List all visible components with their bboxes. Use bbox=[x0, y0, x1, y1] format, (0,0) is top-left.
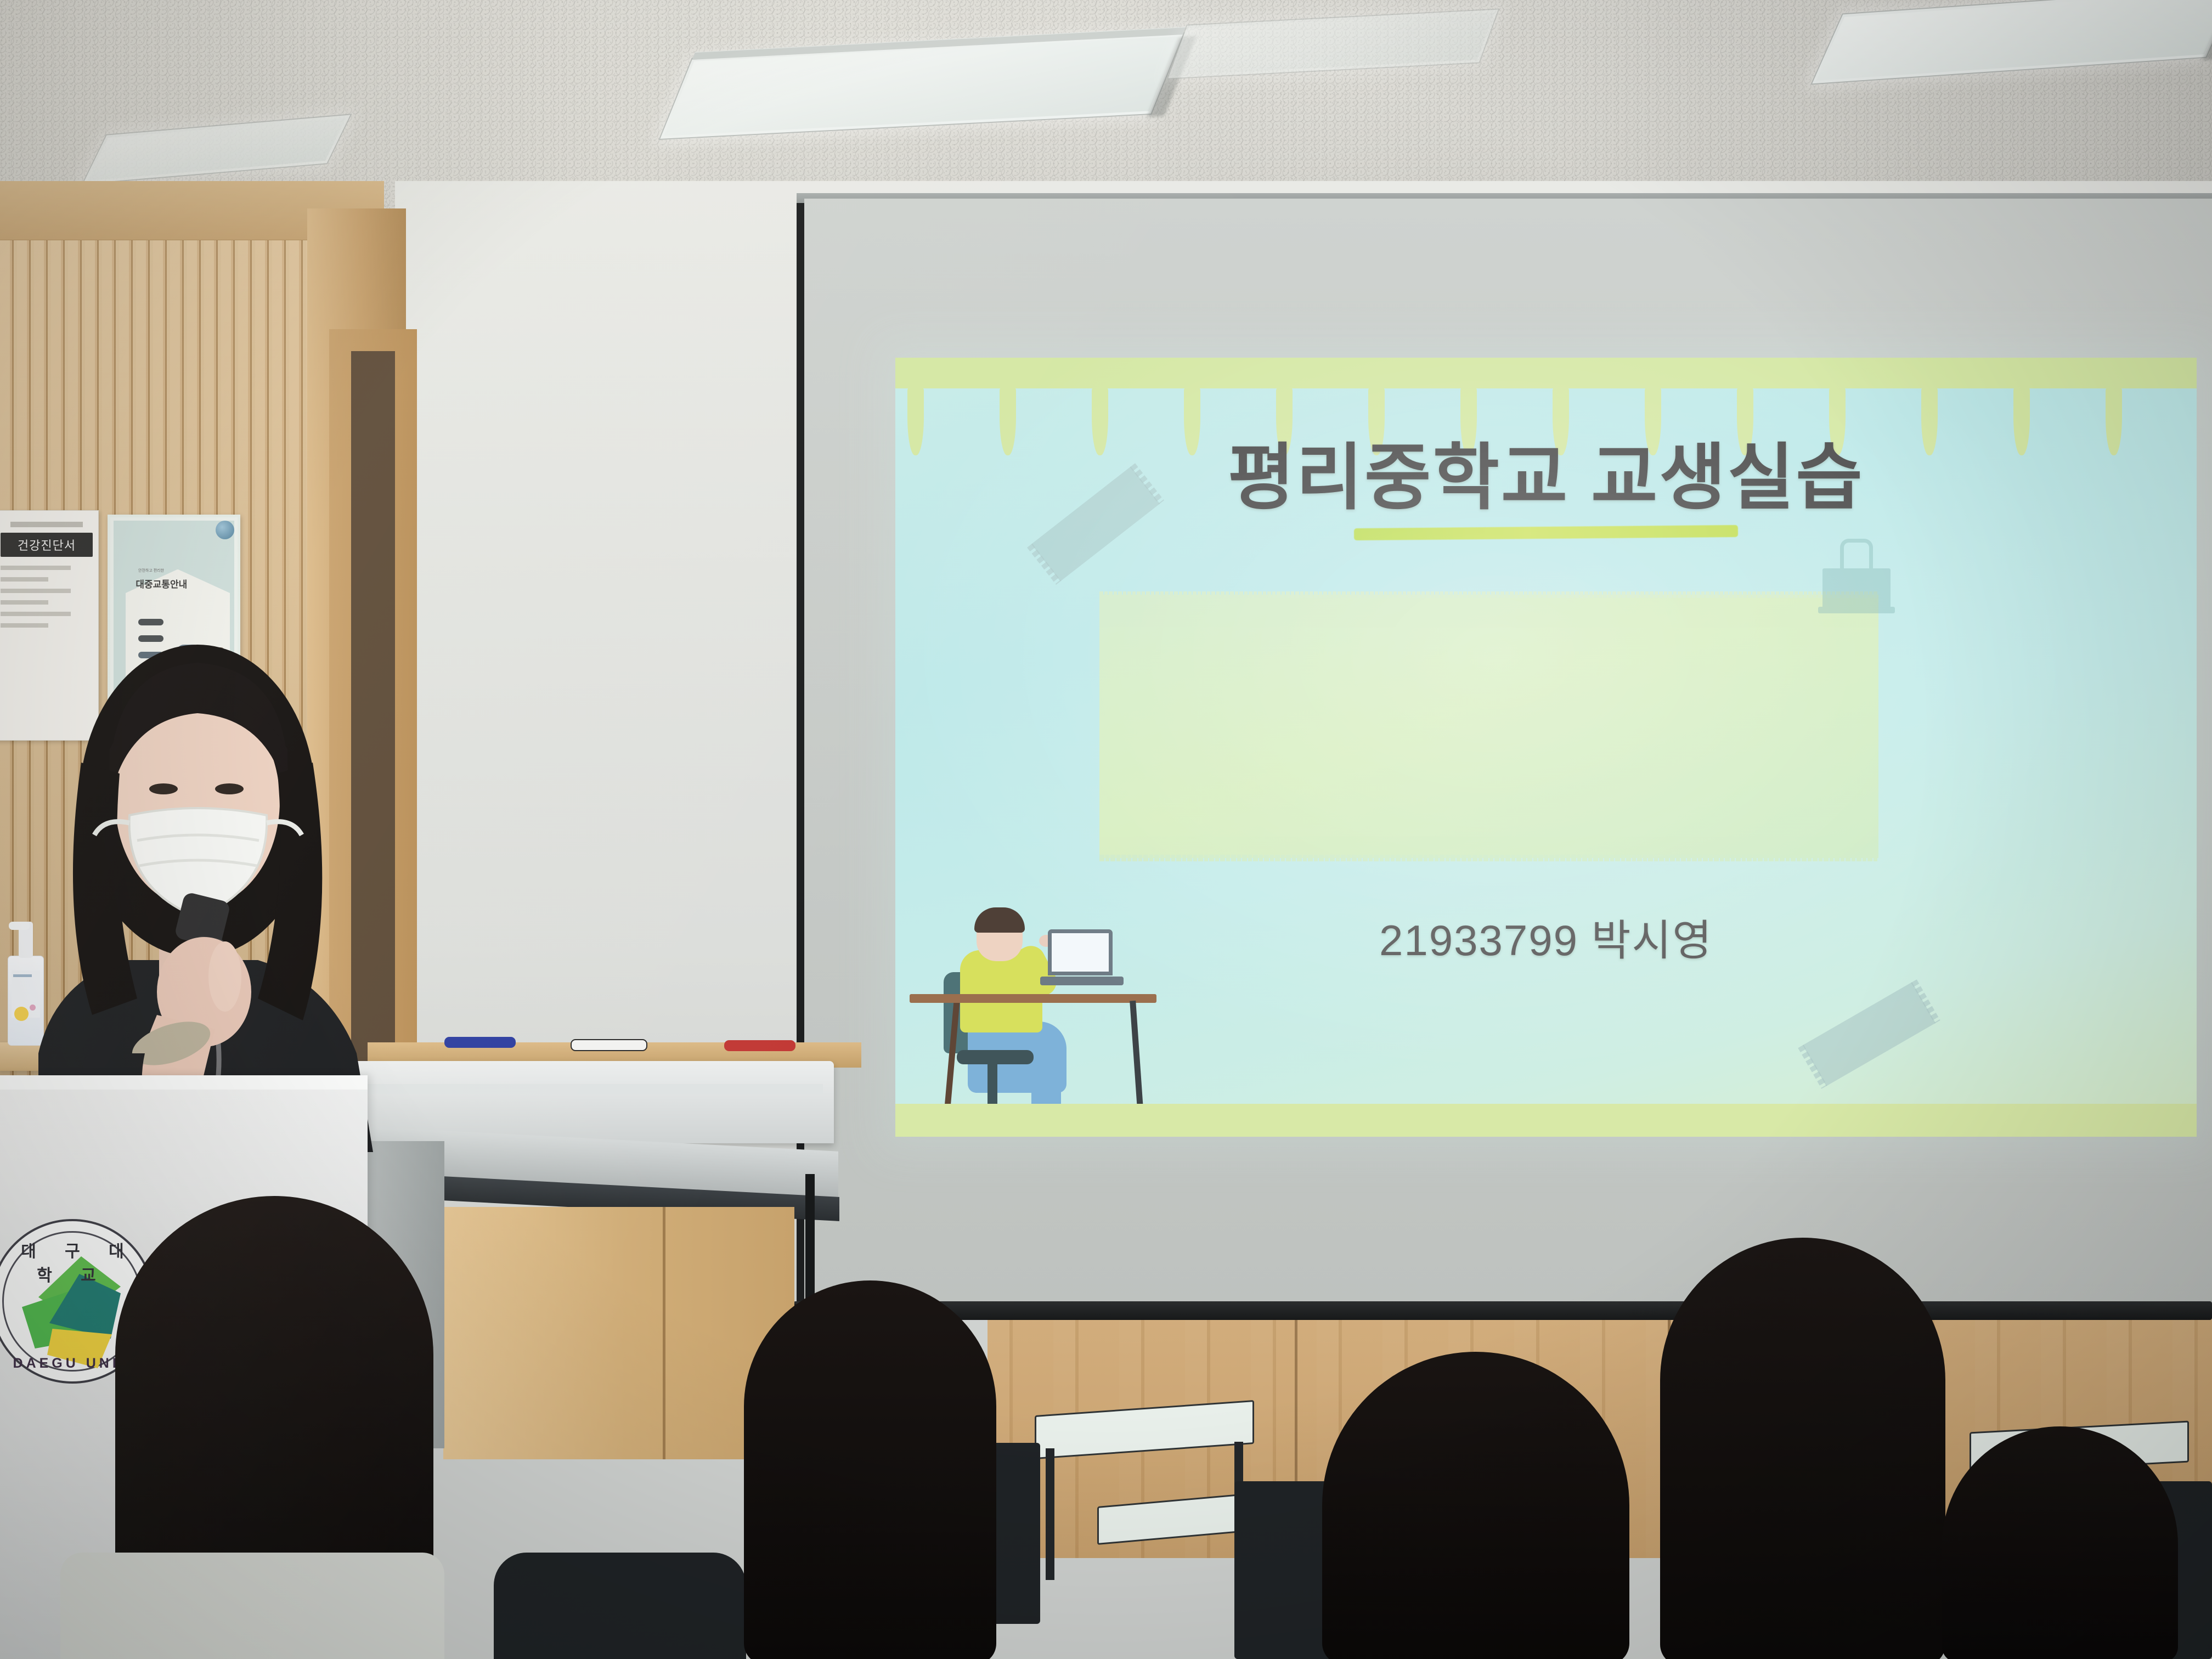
poster-left-line bbox=[1, 566, 71, 570]
student-at-desk-illustration bbox=[910, 895, 1167, 1115]
title-highlighter-underline bbox=[1354, 525, 1738, 540]
projection-screen: 평리중학교 교생실습 21933799 박시영 bbox=[797, 193, 2212, 1323]
illustration-desk-leg bbox=[1130, 1001, 1143, 1108]
lectern-cabinet[interactable] bbox=[443, 1207, 794, 1459]
presenter-eye-right bbox=[215, 783, 244, 794]
screen-bottom-rail[interactable] bbox=[793, 1301, 2212, 1320]
presenter-thumb bbox=[208, 941, 241, 1012]
laptop-icon bbox=[1048, 929, 1113, 975]
desk-leg bbox=[1046, 1448, 1054, 1580]
binder-clip-body bbox=[1822, 568, 1891, 609]
slide-top-band bbox=[895, 358, 2197, 388]
poster-left-header-band: 건강진단서 bbox=[1, 533, 93, 557]
poster-left-line bbox=[1, 623, 48, 628]
audience-head bbox=[1322, 1352, 1629, 1659]
audience-head bbox=[1942, 1426, 2178, 1659]
poster-seal-icon bbox=[216, 521, 234, 539]
laptop-base bbox=[1040, 977, 1124, 985]
audience-head bbox=[1660, 1238, 1945, 1659]
poster-subtitle: 안전하고 편리한 bbox=[138, 568, 164, 573]
illustration-hair bbox=[974, 907, 1025, 933]
marker-red[interactable] bbox=[724, 1040, 795, 1051]
projected-slide: 평리중학교 교생실습 21933799 박시영 bbox=[895, 358, 2197, 1137]
logo-korean-text: 대 구 대 학 교 bbox=[0, 1238, 153, 1286]
podium-top-edge bbox=[0, 1075, 368, 1090]
cabinet-door-seam bbox=[663, 1207, 665, 1459]
audience-shoulders bbox=[60, 1553, 444, 1659]
illustration-desk-top bbox=[910, 994, 1156, 1003]
poster-left-line bbox=[1, 612, 71, 616]
classroom-photo-scene: 건강진단서 안전하고 편리한 대중교통안내 bbox=[0, 0, 2212, 1659]
poster-left-header-text: 건강진단서 bbox=[18, 536, 76, 554]
audience-head bbox=[744, 1280, 996, 1659]
slide-title-card bbox=[1099, 595, 1878, 858]
presenter bbox=[22, 636, 472, 1152]
washi-tape-bottom-right-icon bbox=[1803, 982, 1936, 1086]
binder-clip-foot bbox=[1818, 607, 1895, 613]
poster-left-line bbox=[1, 589, 71, 593]
slide-bottom-band bbox=[895, 1104, 2197, 1137]
poster-left-line bbox=[1, 600, 48, 605]
poster-left-line bbox=[1, 577, 48, 582]
binder-clip-icon bbox=[1822, 539, 1891, 609]
tape-edge bbox=[1798, 1045, 1827, 1088]
tape-edge bbox=[1027, 544, 1061, 585]
poster-chip bbox=[138, 619, 163, 625]
marker-black[interactable] bbox=[571, 1039, 647, 1051]
classroom-chair[interactable] bbox=[494, 1553, 746, 1659]
presenter-eye-left bbox=[149, 783, 178, 794]
binder-clip-arm bbox=[1840, 539, 1873, 573]
illustration-chair-post bbox=[988, 1063, 997, 1105]
poster-title: 대중교통안내 bbox=[136, 577, 187, 590]
tape-edge bbox=[1911, 979, 1940, 1023]
poster-left-topline bbox=[10, 522, 82, 527]
